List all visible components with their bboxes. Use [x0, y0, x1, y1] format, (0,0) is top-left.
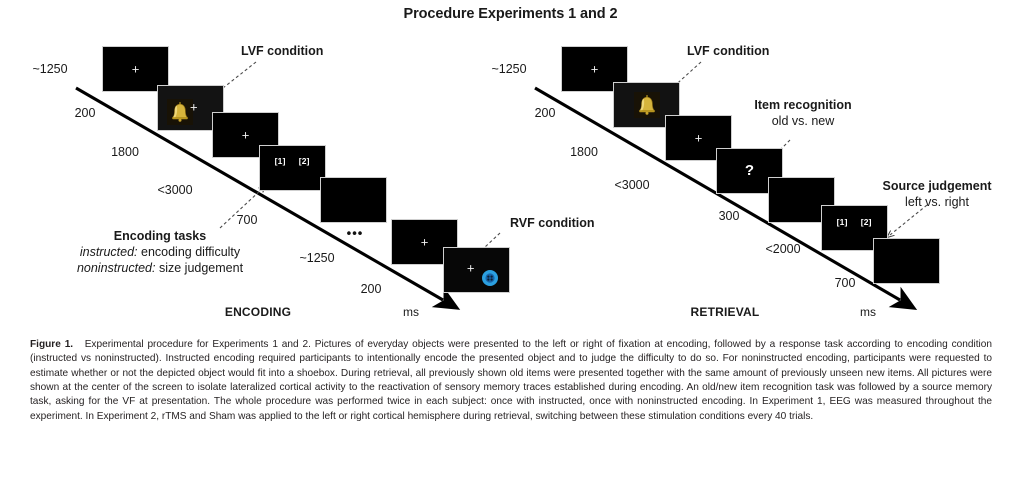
- encoding-task-noninstructed-label: noninstructed:: [77, 261, 156, 275]
- duration-label: ~1250: [299, 251, 334, 265]
- duration-label: 700: [835, 276, 856, 290]
- encoding-screen-stimulus-rvf: +: [443, 247, 510, 293]
- annotation-item-recognition: Item recognition old vs. new: [754, 97, 851, 129]
- encoding-screen-response-options: [1] [2]: [259, 145, 326, 191]
- source-judgement-subtext: left vs. right: [882, 194, 991, 210]
- encoding-screen-blank: [320, 177, 387, 223]
- duration-label: <2000: [765, 242, 800, 256]
- phase-label-retrieval: RETRIEVAL: [691, 305, 760, 319]
- duration-label: ~1250: [491, 62, 526, 76]
- duration-label: 200: [75, 106, 96, 120]
- encoding-task-instructed-label: instructed:: [80, 245, 138, 259]
- fixation-cross: +: [190, 101, 198, 114]
- encoding-task-instructed-text: encoding difficulty: [141, 245, 240, 259]
- response-option-2[interactable]: [2]: [299, 156, 310, 166]
- fixation-cross: +: [132, 63, 140, 76]
- item-recognition-heading: Item recognition: [754, 97, 851, 113]
- fixation-cross: +: [242, 129, 250, 142]
- annotation-lvf-condition: LVF condition: [687, 44, 769, 58]
- duration-label: 1800: [111, 145, 139, 159]
- annotation-rvf-condition: RVF condition: [510, 216, 595, 230]
- duration-label: ~1250: [32, 62, 67, 76]
- fixation-cross: +: [591, 63, 599, 76]
- duration-label: 300: [719, 209, 740, 223]
- fixation-cross: +: [467, 261, 475, 274]
- duration-label: 700: [237, 213, 258, 227]
- item-recognition-subtext: old vs. new: [754, 113, 851, 129]
- encoding-tasks-annotation: Encoding tasks instructed: encoding diff…: [77, 228, 243, 276]
- encoding-task-noninstructed-text: size judgement: [159, 261, 243, 275]
- blue-button-object-icon: [481, 269, 498, 286]
- time-unit-label: ms: [860, 305, 876, 319]
- fixation-cross: +: [421, 236, 429, 249]
- retrieval-screen-blank-2: [873, 238, 940, 284]
- encoding-tasks-heading: Encoding tasks: [77, 228, 243, 244]
- source-judgement-heading: Source judgement: [882, 178, 991, 194]
- annotation-lvf-condition: LVF condition: [241, 44, 323, 58]
- question-mark-prompt: ?: [745, 162, 754, 179]
- source-option-2[interactable]: [2]: [861, 217, 872, 227]
- annotation-source-judgement: Source judgement left vs. right: [882, 178, 991, 210]
- duration-label: <3000: [157, 183, 192, 197]
- encoding-task-instructed: instructed: encoding difficulty: [77, 244, 243, 260]
- source-option-1[interactable]: [1]: [837, 217, 848, 227]
- response-option-1[interactable]: [1]: [275, 156, 286, 166]
- duration-label: 200: [361, 282, 382, 296]
- fixation-cross: +: [695, 132, 703, 145]
- encoding-task-noninstructed: noninstructed: size judgement: [77, 260, 243, 276]
- duration-label: 200: [535, 106, 556, 120]
- sequence-ellipsis: •••: [347, 226, 364, 241]
- figure-diagram: Procedure Experiments 1 and 2: [0, 0, 1021, 330]
- bell-object-icon: [634, 92, 660, 118]
- figure-caption-body: Experimental procedure for Experiments 1…: [30, 339, 992, 422]
- duration-label: 1800: [570, 145, 598, 159]
- figure-caption-label: Figure 1.: [30, 339, 73, 350]
- figure-caption: Figure 1. Experimental procedure for Exp…: [30, 338, 992, 424]
- duration-label: <3000: [614, 178, 649, 192]
- time-unit-label: ms: [403, 305, 419, 319]
- phase-label-encoding: ENCODING: [225, 305, 291, 319]
